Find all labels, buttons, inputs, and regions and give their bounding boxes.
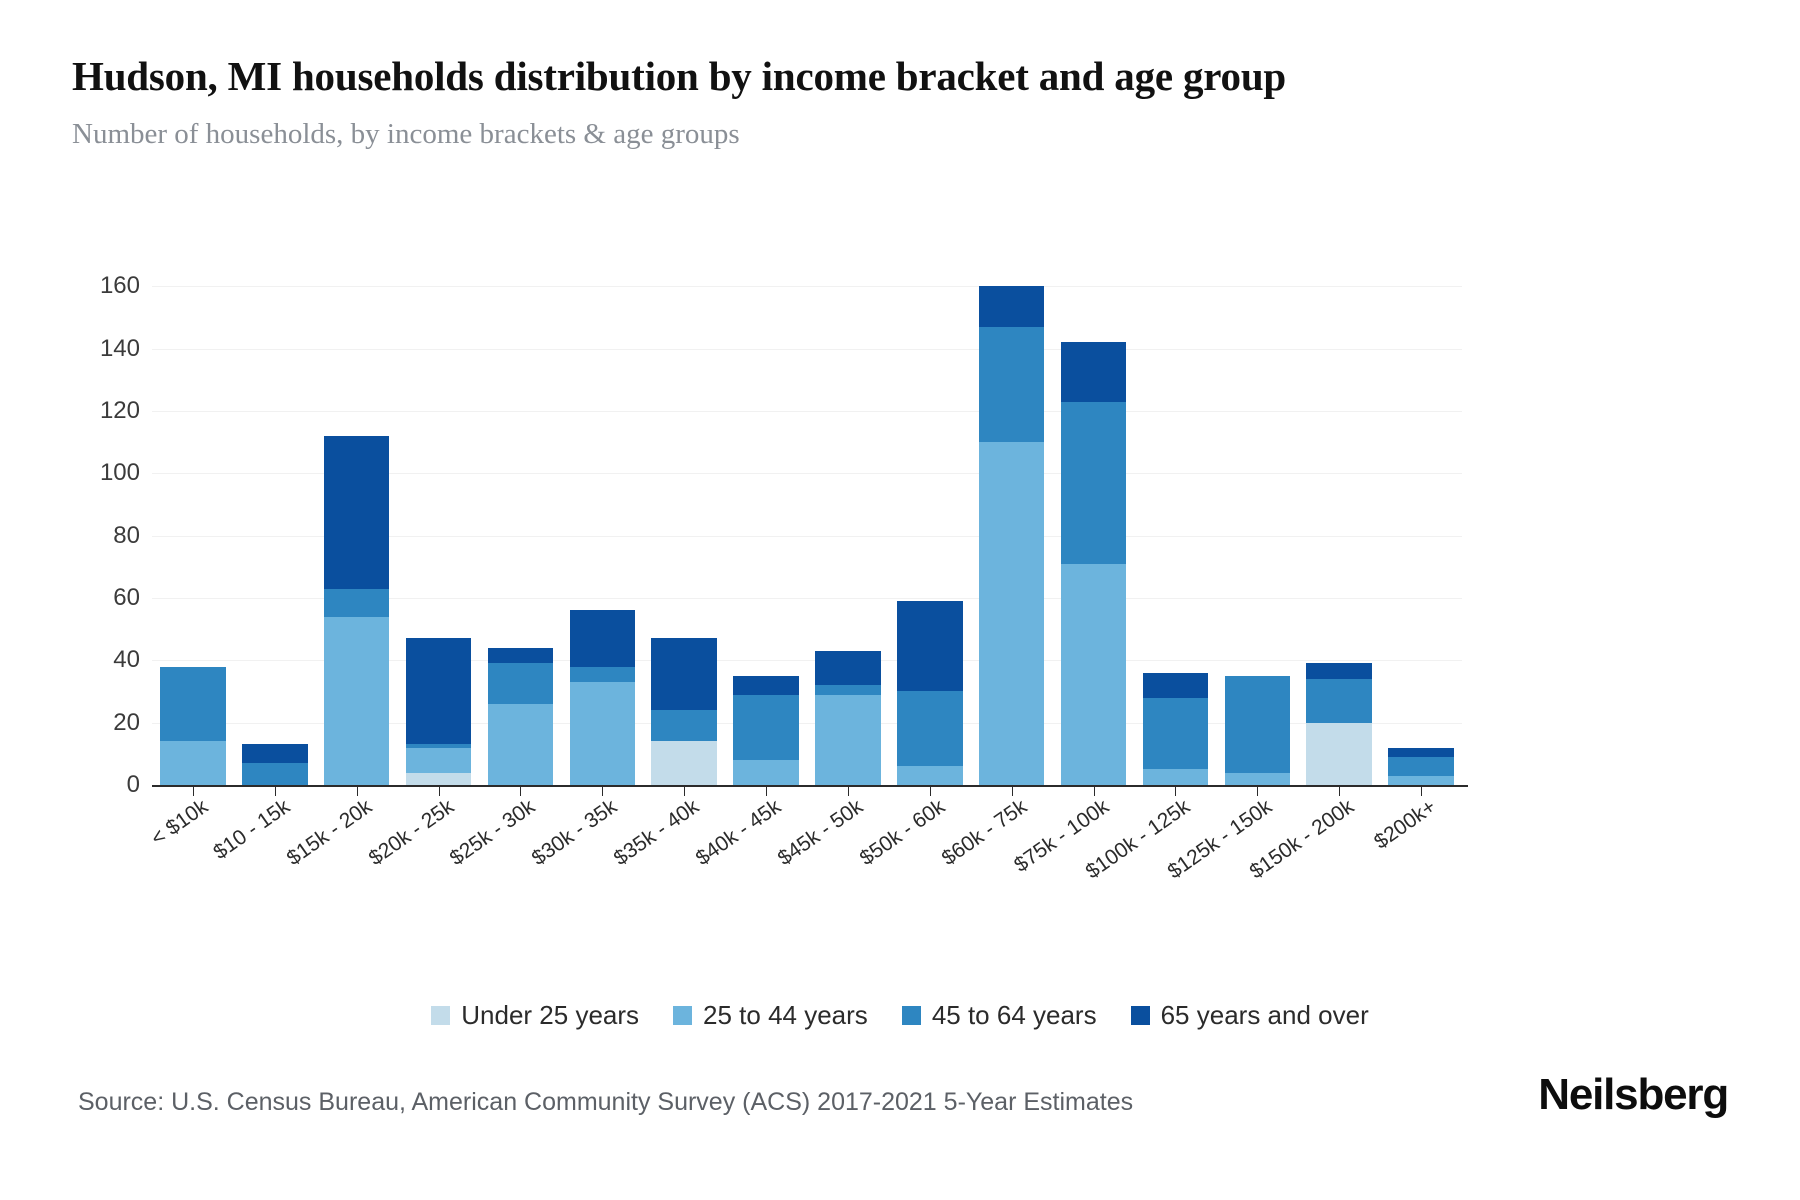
y-tick-label: 60 <box>40 584 140 612</box>
bar-segment[interactable] <box>488 704 554 785</box>
bar-segment[interactable] <box>242 744 308 763</box>
legend-swatch-icon <box>431 1006 450 1025</box>
bar-segment[interactable] <box>1143 698 1209 770</box>
bar-segment[interactable] <box>1061 342 1127 401</box>
page-title: Hudson, MI households distribution by in… <box>72 52 1286 100</box>
legend-label: 65 years and over <box>1161 1000 1369 1031</box>
bar-segment[interactable] <box>570 682 636 785</box>
bar-segment[interactable] <box>1143 673 1209 698</box>
y-tick-label: 120 <box>40 397 140 425</box>
y-tick-label: 100 <box>40 459 140 487</box>
y-tick-label: 80 <box>40 522 140 550</box>
x-tick-mark <box>439 787 440 796</box>
bar-segment[interactable] <box>979 442 1045 785</box>
bar-segment[interactable] <box>242 763 308 785</box>
x-tick-label: $45k - 50k <box>774 795 868 871</box>
bar-segment[interactable] <box>897 766 963 785</box>
bar-stack[interactable] <box>1061 342 1127 785</box>
x-tick-label: $20k - 25k <box>364 795 458 871</box>
bar-segment[interactable] <box>733 695 799 760</box>
gridline <box>152 411 1462 412</box>
x-tick-mark <box>848 787 849 796</box>
bar-segment[interactable] <box>406 748 472 773</box>
bar-stack[interactable] <box>1306 663 1372 785</box>
y-axis: 020406080100120140160 <box>40 255 140 785</box>
x-tick-mark <box>520 787 521 796</box>
brand-logo: Neilsberg <box>1538 1070 1728 1120</box>
x-tick-mark <box>275 787 276 796</box>
bar-segment[interactable] <box>1225 773 1291 785</box>
bar-segment[interactable] <box>1388 776 1454 785</box>
bar-segment[interactable] <box>570 610 636 666</box>
bar-stack[interactable] <box>406 638 472 785</box>
bar-segment[interactable] <box>1061 402 1127 564</box>
bar-segment[interactable] <box>733 760 799 785</box>
gridline <box>152 349 1462 350</box>
bar-stack[interactable] <box>242 744 308 785</box>
bar-segment[interactable] <box>979 286 1045 327</box>
x-tick-label: $30k - 35k <box>528 795 622 871</box>
x-tick-label: $35k - 40k <box>610 795 704 871</box>
legend-item[interactable]: 25 to 44 years <box>673 1000 868 1031</box>
bar-stack[interactable] <box>897 601 963 785</box>
x-tick-mark <box>357 787 358 796</box>
bar-segment[interactable] <box>897 601 963 691</box>
bar-segment[interactable] <box>406 638 472 744</box>
bar-segment[interactable] <box>1306 723 1372 785</box>
x-tick-mark <box>930 787 931 796</box>
bar-stack[interactable] <box>1143 673 1209 785</box>
bar-segment[interactable] <box>1388 757 1454 776</box>
bar-segment[interactable] <box>651 710 717 741</box>
bar-segment[interactable] <box>406 773 472 785</box>
bar-stack[interactable] <box>651 638 717 785</box>
bar-segment[interactable] <box>1388 748 1454 757</box>
x-tick-mark <box>684 787 685 796</box>
legend-label: Under 25 years <box>461 1000 639 1031</box>
x-tick-label: $25k - 30k <box>446 795 540 871</box>
bar-segment[interactable] <box>1225 676 1291 773</box>
bar-segment[interactable] <box>488 648 554 664</box>
x-tick-mark <box>602 787 603 796</box>
bar-segment[interactable] <box>160 667 226 742</box>
bar-segment[interactable] <box>1306 679 1372 723</box>
y-tick-label: 0 <box>40 771 140 799</box>
x-tick-mark <box>1094 787 1095 796</box>
bar-segment[interactable] <box>897 691 963 766</box>
x-tick-label: $200k+ <box>1370 795 1441 855</box>
bar-segment[interactable] <box>815 695 881 785</box>
x-axis-line <box>152 785 1468 787</box>
bar-segment[interactable] <box>1061 564 1127 785</box>
bar-stack[interactable] <box>160 667 226 785</box>
legend-item[interactable]: 45 to 64 years <box>902 1000 1097 1031</box>
bar-stack[interactable] <box>324 436 390 785</box>
legend-label: 25 to 44 years <box>703 1000 868 1031</box>
bar-stack[interactable] <box>1225 676 1291 785</box>
x-tick-mark <box>1012 787 1013 796</box>
chart-subtitle: Number of households, by income brackets… <box>72 118 740 151</box>
y-tick-label: 160 <box>40 272 140 300</box>
bar-stack[interactable] <box>1388 748 1454 785</box>
legend-item[interactable]: 65 years and over <box>1131 1000 1369 1031</box>
gridline <box>152 286 1462 287</box>
legend-swatch-icon <box>673 1006 692 1025</box>
bar-segment[interactable] <box>979 327 1045 442</box>
x-tick-mark <box>1257 787 1258 796</box>
bar-stack[interactable] <box>733 676 799 785</box>
bar-segment[interactable] <box>324 617 390 785</box>
x-tick-label: $50k - 60k <box>855 795 949 871</box>
bar-segment[interactable] <box>651 638 717 710</box>
bar-segment[interactable] <box>733 676 799 695</box>
bar-stack[interactable] <box>570 610 636 785</box>
legend-swatch-icon <box>1131 1006 1150 1025</box>
bar-segment[interactable] <box>651 741 717 785</box>
x-tick-mark <box>766 787 767 796</box>
bar-segment[interactable] <box>488 663 554 704</box>
x-tick-mark <box>193 787 194 796</box>
y-tick-label: 40 <box>40 646 140 674</box>
y-tick-label: 140 <box>40 335 140 363</box>
x-tick-mark <box>1175 787 1176 796</box>
bar-segment[interactable] <box>1143 769 1209 785</box>
x-tick-mark <box>1339 787 1340 796</box>
bar-segment[interactable] <box>324 436 390 589</box>
legend-swatch-icon <box>902 1006 921 1025</box>
bar-stack[interactable] <box>488 648 554 785</box>
x-tick-label: $15k - 20k <box>282 795 376 871</box>
x-tick-label: < $10k <box>147 795 213 851</box>
bar-stack[interactable] <box>979 286 1045 785</box>
legend-item[interactable]: Under 25 years <box>431 1000 639 1031</box>
chart-legend: Under 25 years25 to 44 years45 to 64 yea… <box>0 1000 1800 1031</box>
bar-segment[interactable] <box>160 741 226 785</box>
x-tick-label: $40k - 45k <box>692 795 786 871</box>
x-tick-label: $10 - 15k <box>209 795 294 865</box>
plot-area <box>152 255 1462 785</box>
legend-label: 45 to 64 years <box>932 1000 1097 1031</box>
bar-segment[interactable] <box>815 651 881 685</box>
bar-stack[interactable] <box>815 651 881 785</box>
source-note: Source: U.S. Census Bureau, American Com… <box>78 1088 1133 1117</box>
bar-segment[interactable] <box>570 667 636 683</box>
bar-segment[interactable] <box>324 589 390 617</box>
bar-segment[interactable] <box>815 685 881 694</box>
bar-segment[interactable] <box>1306 663 1372 679</box>
x-tick-mark <box>1421 787 1422 796</box>
y-tick-label: 20 <box>40 709 140 737</box>
